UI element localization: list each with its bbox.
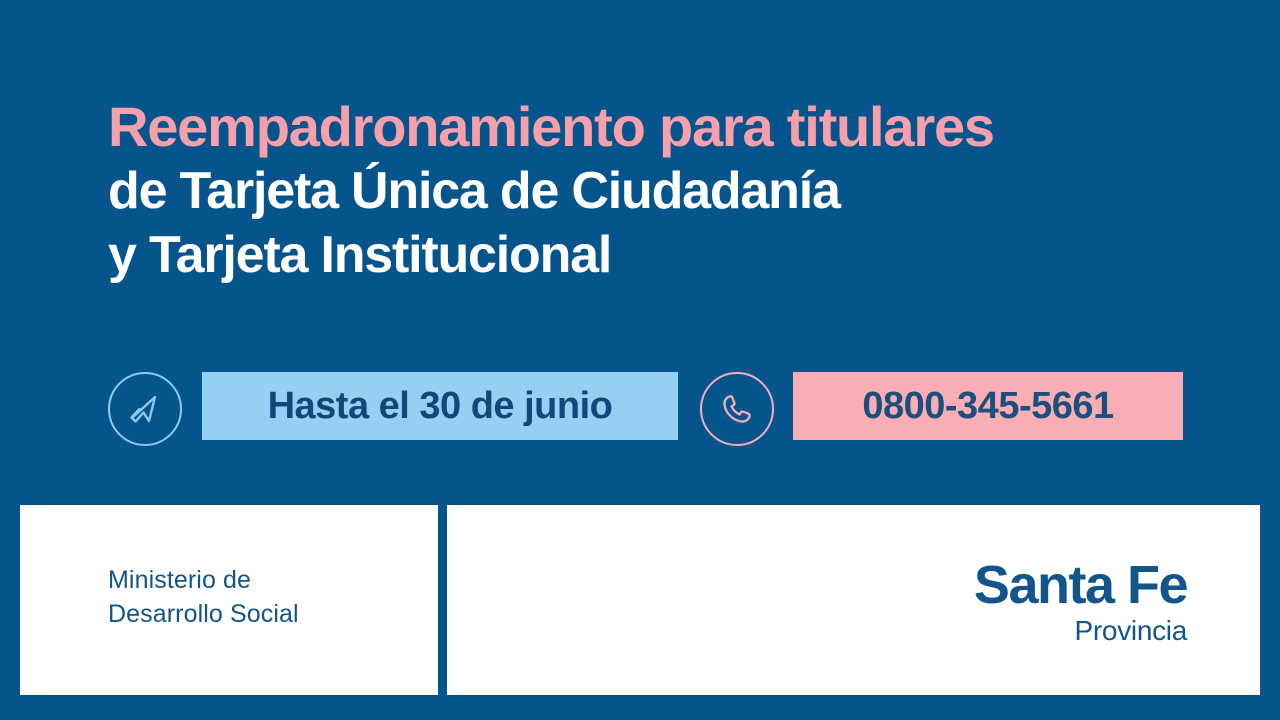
date-badge-label: Hasta el 30 de junio (268, 385, 613, 428)
province-panel: Santa Fe Provincia (447, 505, 1260, 695)
headline-line-2: de Tarjeta Única de Ciudadanía (108, 159, 1228, 223)
phone-number-label: 0800-345-5661 (862, 385, 1113, 428)
phone-badge[interactable]: 0800-345-5661 (793, 372, 1183, 440)
santa-fe-logo-main: Santa Fe (974, 557, 1187, 613)
ministry-line-2: Desarrollo Social (108, 597, 299, 631)
santa-fe-logo: Santa Fe Provincia (974, 557, 1187, 647)
headline-line-3: y Tarjeta Institucional (108, 223, 1228, 287)
ministry-line-1: Ministerio de (108, 563, 299, 597)
ministry-panel: Ministerio de Desarrollo Social (20, 505, 438, 695)
headline-block: Reempadronamiento para titulares de Tarj… (108, 95, 1228, 287)
phone-handset-icon (700, 372, 774, 446)
date-badge[interactable]: Hasta el 30 de junio (202, 372, 678, 440)
ministry-logo: Ministerio de Desarrollo Social (108, 563, 299, 631)
headline-line-1: Reempadronamiento para titulares (108, 95, 1228, 159)
santa-fe-logo-sub: Provincia (974, 615, 1187, 647)
cursor-arrow-icon (108, 372, 182, 446)
poster-canvas: Reempadronamiento para titulares de Tarj… (0, 0, 1280, 720)
